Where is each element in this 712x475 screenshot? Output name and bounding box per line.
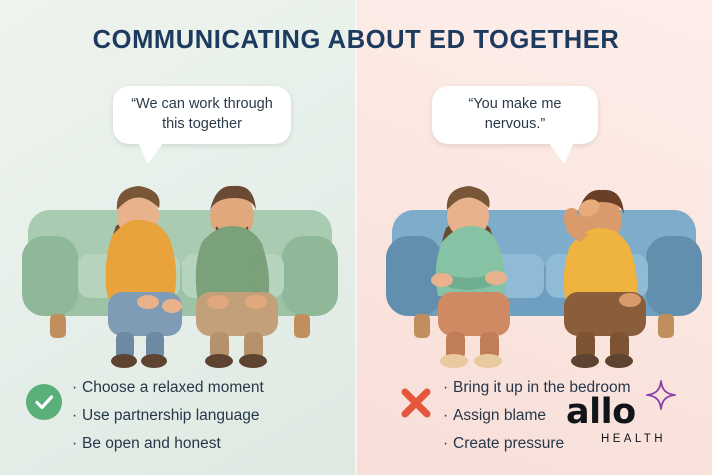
cross-icon [399,386,433,420]
logo-subtitle: HEALTH [601,433,666,445]
list-item-label: Be open and honest [82,435,221,452]
list-item-label: Use partnership language [82,407,260,424]
panel-divider [355,0,357,475]
list-item-label: Assign blame [453,407,546,424]
left-speech-bubble-tail [138,142,164,164]
list-item-label: Create pressure [453,435,564,452]
sparkle-icon [644,378,678,412]
check-icon [33,391,55,413]
page-title: COMMUNICATING ABOUT ED TOGETHER [0,26,712,55]
bullet-dot: · [443,430,453,458]
bullet-dot: · [443,402,453,430]
left-speech-bubble: “We can work through this together [113,86,291,144]
logo-wordmark: allo [566,392,636,432]
bullet-dot: · [72,430,82,458]
right-speech-bubble-tail [548,142,574,164]
list-item: ·Use partnership language [72,402,264,430]
left-tips-list: ·Choose a relaxed moment ·Use partnershi… [72,374,264,458]
bullet-dot: · [72,374,82,402]
infographic-canvas: COMMUNICATING ABOUT ED TOGETHER [0,0,712,475]
right-speech-bubble: “You make me nervous.” [432,86,598,144]
check-badge [26,384,62,420]
bullet-dot: · [443,374,453,402]
allo-health-logo: allo HEALTH [566,392,690,454]
list-item: ·Choose a relaxed moment [72,374,264,402]
list-item-label: Choose a relaxed moment [82,379,264,396]
list-item: ·Be open and honest [72,430,264,458]
bullet-dot: · [72,402,82,430]
right-couple-illustration [384,150,704,370]
left-couple-illustration [20,150,340,370]
